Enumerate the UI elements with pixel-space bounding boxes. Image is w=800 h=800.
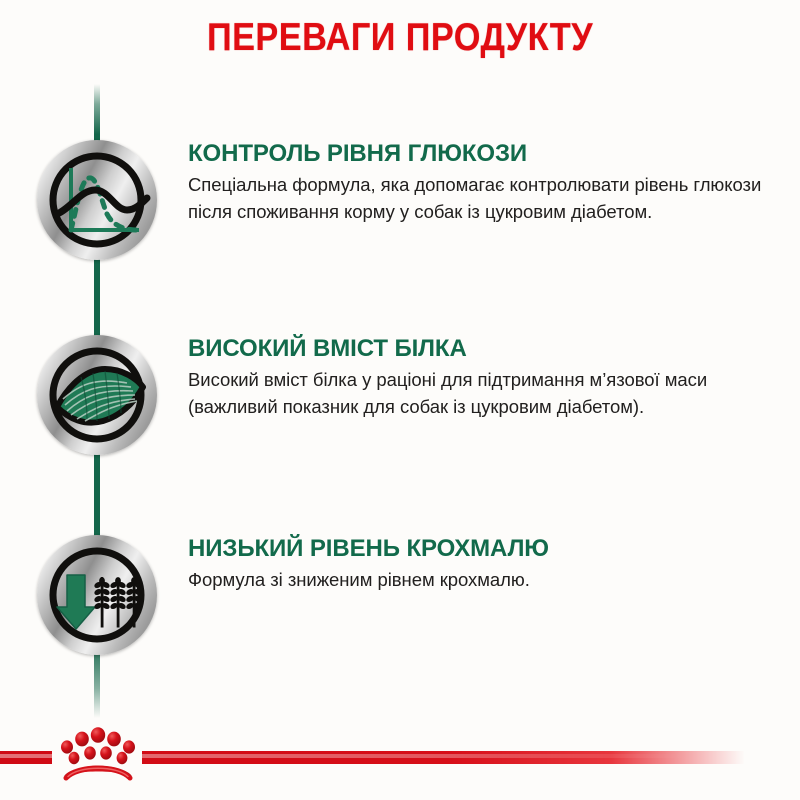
benefit-item-high-protein: ВИСОКИЙ ВМІСТ БІЛКА Високий вміст білка …: [0, 335, 800, 455]
royal-canin-crown-logo: [52, 720, 144, 786]
benefit-body: Високий вміст білка у раціоні для підтри…: [188, 366, 788, 420]
benefit-body: Формула зі зниженим рівнем крохмалю.: [188, 566, 788, 593]
benefit-text-high-protein: ВИСОКИЙ ВМІСТ БІЛКА Високий вміст білка …: [188, 335, 788, 420]
benefit-item-glucose-control: КОНТРОЛЬ РІВНЯ ГЛЮКОЗИ Спеціальна формул…: [0, 140, 800, 260]
low-starch-wheat-arrow-icon: [37, 535, 157, 655]
benefit-text-glucose-control: КОНТРОЛЬ РІВНЯ ГЛЮКОЗИ Спеціальна формул…: [188, 140, 788, 225]
benefit-text-low-starch: НИЗЬКИЙ РІВЕНЬ КРОХМАЛЮ Формула зі зниже…: [188, 535, 788, 593]
benefit-heading: НИЗЬКИЙ РІВЕНЬ КРОХМАЛЮ: [188, 535, 788, 563]
benefit-body: Спеціальна формула, яка допомагає контро…: [188, 171, 788, 225]
muscle-fiber-icon: [37, 335, 157, 455]
connector-rail-2: [94, 444, 100, 544]
connector-rail-1: [94, 248, 100, 348]
benefit-item-low-starch: НИЗЬКИЙ РІВЕНЬ КРОХМАЛЮ Формула зі зниже…: [0, 535, 800, 655]
page-title: ПЕРЕВАГИ ПРОДУКТУ: [48, 16, 752, 60]
benefit-heading: КОНТРОЛЬ РІВНЯ ГЛЮКОЗИ: [188, 140, 788, 168]
glucose-curve-chart-icon: [37, 140, 157, 260]
benefit-heading: ВИСОКИЙ ВМІСТ БІЛКА: [188, 335, 788, 363]
